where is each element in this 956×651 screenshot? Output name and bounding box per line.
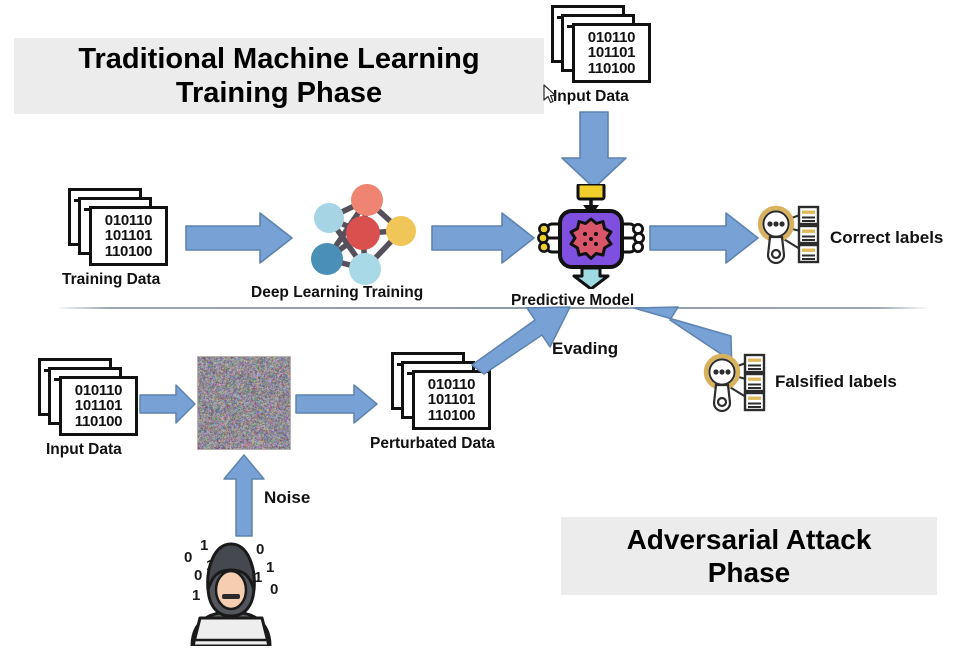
node-predictive-model [536,184,646,289]
arrow-noise-up [223,455,265,537]
label-falsified-labels: Falsified labels [775,372,897,392]
arrow-training-to-network [186,212,294,264]
node-deep-learning-training [303,183,428,288]
node-input-data-bottom: 010110 101101 110100 Input Data [38,358,138,436]
svg-text:0: 0 [270,581,278,598]
label-deep-learning-training: Deep Learning Training [251,284,423,302]
svg-text:0: 0 [256,541,264,558]
nn-node-1 [314,203,344,233]
svg-text:0: 0 [184,549,192,566]
nn-node-5 [311,243,343,275]
label-training-data: Training Data [62,271,160,289]
binary-row-3: 110100 [105,244,152,259]
arrow-input-to-noise [140,385,196,423]
label-noise: Noise [264,488,310,508]
banner-attack-phase: Adversarial Attack Phase [561,517,937,595]
label-input-data-top: Input Data [553,88,629,106]
binary-row-3: 110100 [428,408,475,423]
binary-row-2: 101101 [588,45,635,60]
labels-magnifier-icon [702,351,766,419]
data-stack-icon: 010110 101101 110100 [68,188,168,266]
label-correct-labels: Correct labels [830,228,943,248]
binary-row-1: 010110 [105,213,152,228]
svg-text:0: 0 [194,567,202,584]
arrow-network-to-model [432,212,536,264]
mouse-cursor-icon [543,84,557,104]
svg-text:1: 1 [192,587,200,604]
label-input-data-bottom: Input Data [46,441,122,459]
banner-attack-line1: Adversarial Attack [627,523,872,556]
nn-node-2 [351,184,383,216]
data-stack-icon: 010110 101101 110100 [551,5,651,83]
binary-row-2: 101101 [428,392,475,407]
node-noise-block [197,356,291,450]
arrow-input-to-model [558,112,630,190]
arrow-noise-to-perturbated [296,385,378,423]
node-attacker: 0 1 0 1 1 0 1 1 0 [170,528,292,646]
svg-text:1: 1 [266,559,274,576]
node-input-data-top: 010110 101101 110100 Input Data [551,5,651,83]
binary-row-2: 101101 [75,398,122,413]
data-stack-icon: 010110 101101 110100 [38,358,138,436]
binary-row-1: 010110 [588,30,635,45]
hooded-hacker-icon: 0 1 0 1 1 0 1 1 0 [170,528,292,646]
nn-node-6 [349,253,381,285]
svg-text:1: 1 [200,537,208,554]
binary-row-3: 110100 [75,414,122,429]
neural-network-icon [303,183,428,288]
binary-row-2: 101101 [105,228,152,243]
banner-training-phase: Traditional Machine Learning Training Ph… [14,38,544,114]
label-evading: Evading [552,339,618,359]
banner-attack-line2: Phase [627,556,872,589]
nn-node-3 [346,216,380,250]
diagram-canvas: Traditional Machine Learning Training Ph… [0,0,956,648]
banner-training-line1: Traditional Machine Learning [78,42,479,76]
node-training-data: 010110 101101 110100 Training Data [68,188,168,266]
banner-training-line2: Training Phase [78,76,479,110]
processor-chip-icon [536,184,646,289]
labels-magnifier-icon [756,203,820,271]
binary-row-3: 110100 [588,61,635,76]
binary-row-1: 010110 [428,377,475,392]
node-correct-labels [756,203,820,276]
label-perturbated-data: Perturbated Data [370,435,495,453]
random-noise-icon [198,357,290,449]
node-falsified-labels [702,351,766,424]
arrow-model-to-correct-labels [650,213,760,263]
arrow-evading-to-model [472,302,594,374]
binary-row-1: 010110 [75,383,122,398]
nn-node-4 [386,216,416,246]
gear-icon [571,219,611,259]
